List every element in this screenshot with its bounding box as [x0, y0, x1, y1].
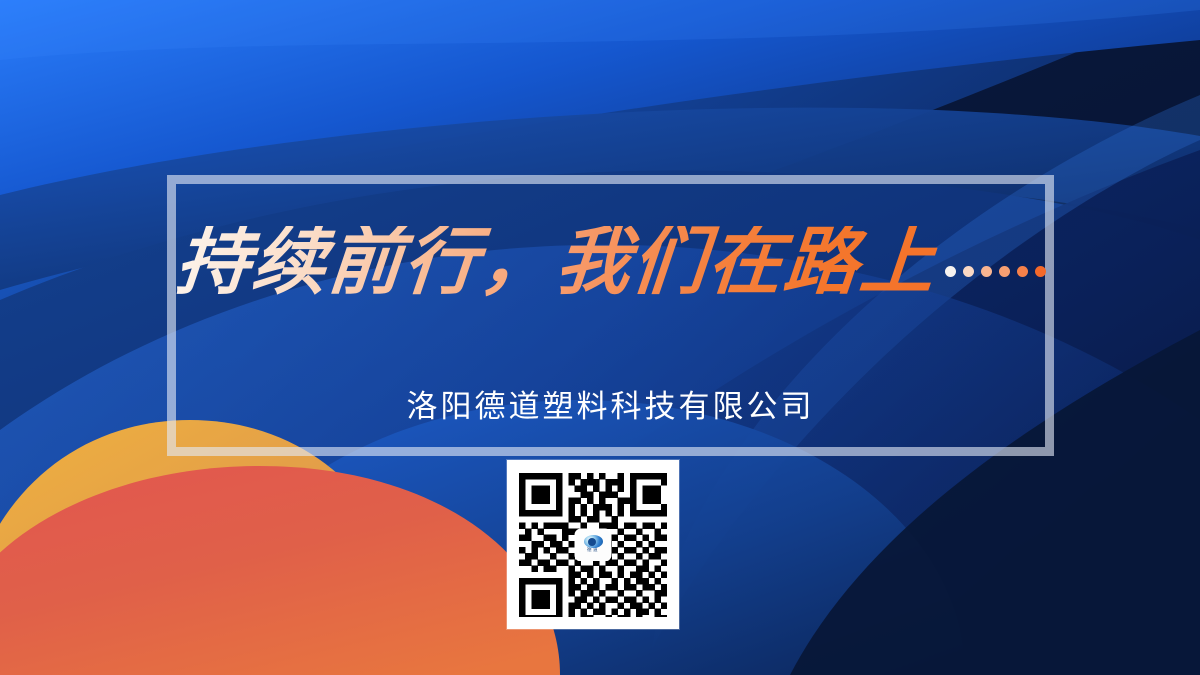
headline-ellipsis-dots	[938, 264, 1046, 282]
ellipsis-dot	[963, 266, 974, 277]
ellipsis-dot	[981, 266, 992, 277]
qr-code-panel[interactable]: 德道	[507, 460, 679, 629]
presentation-slide: 持续前行，我们在路上 洛阳德道塑料科技有限公司 德道	[0, 0, 1200, 675]
ellipsis-dot	[945, 266, 956, 277]
qr-center-logo-label: 德道	[587, 549, 599, 554]
headline-slogan-text: 持续前行，我们在路上	[172, 226, 939, 301]
ellipsis-dot	[1035, 266, 1046, 277]
ellipsis-dot	[999, 266, 1010, 277]
headline-slogan: 持续前行，我们在路上	[167, 226, 1054, 301]
company-logo-icon	[584, 535, 603, 548]
company-name-text: 洛阳德道塑料科技有限公司	[407, 389, 815, 425]
ellipsis-dot	[1017, 266, 1028, 277]
qr-center-logo: 德道	[576, 530, 610, 560]
company-name: 洛阳德道塑料科技有限公司	[167, 381, 1054, 426]
